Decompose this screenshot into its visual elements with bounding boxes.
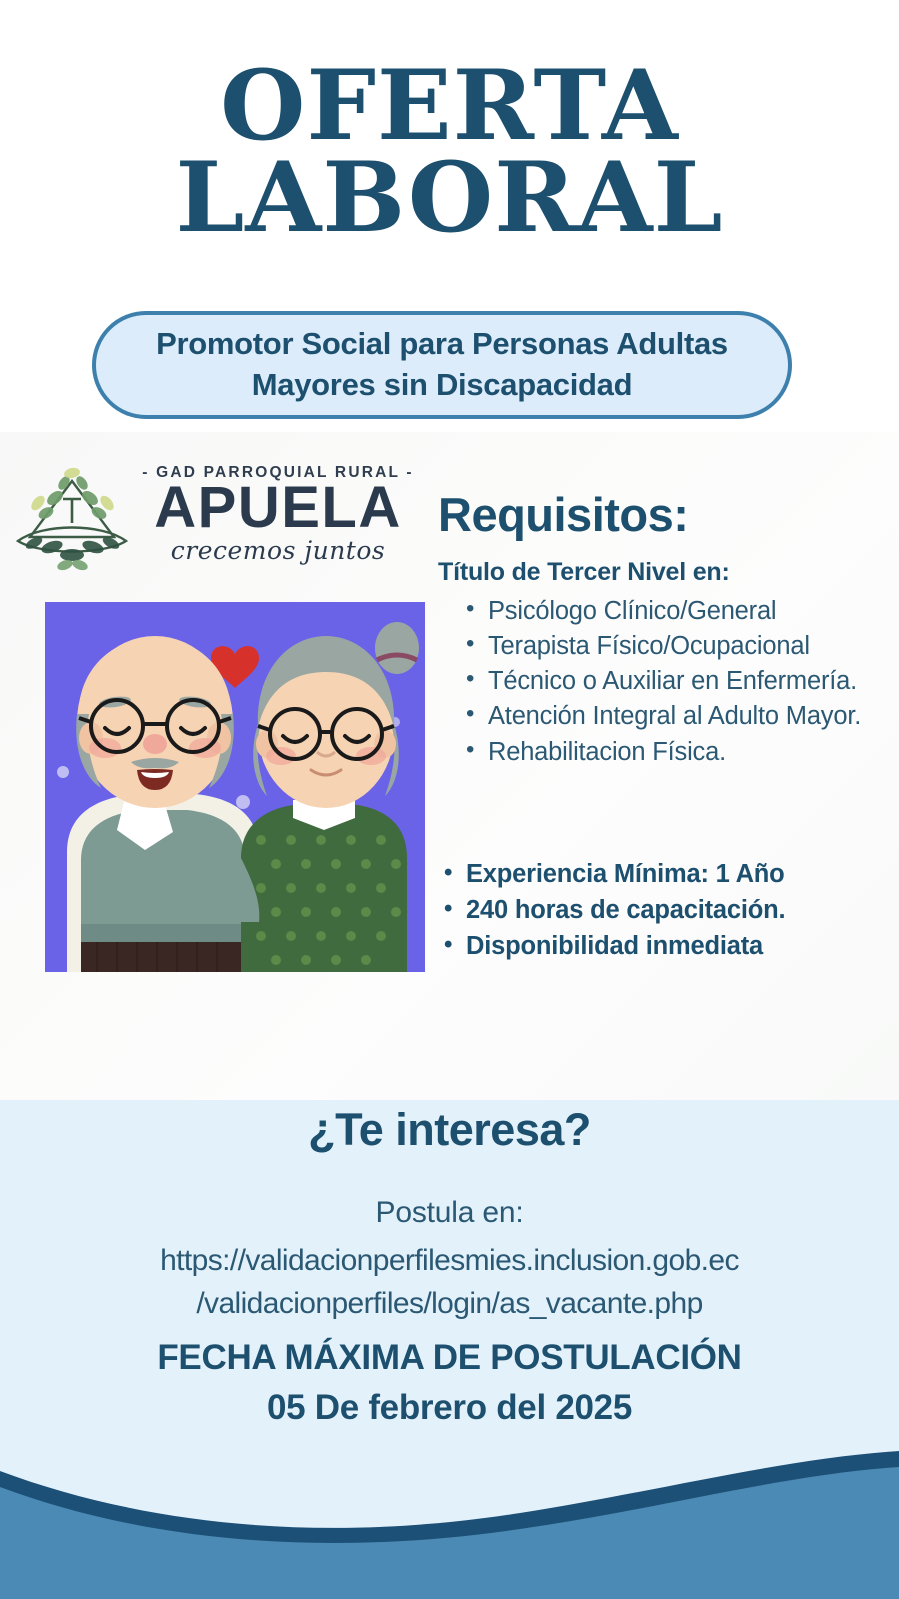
application-url-line-2: /validacionperfiles/login/as_vacante.php (0, 1283, 899, 1326)
requirements-heading: Requisitos: (438, 487, 688, 542)
degree-requirements-list: Psicólogo Clínico/General Terapista Físi… (462, 594, 899, 770)
mountain-leaves-emblem-icon (8, 455, 136, 575)
deadline-label: FECHA MÁXIMA DE POSTULACIÓN (0, 1338, 899, 1378)
organization-logo: - GAD PARROQUIAL RURAL - APUELA crecemos… (8, 452, 428, 577)
list-item: Psicólogo Clínico/General (488, 594, 899, 628)
requirements-subheading: Título de Tercer Nivel en: (438, 558, 730, 587)
logo-name: APUELA (142, 480, 414, 535)
position-title-text: Promotor Social para Personas Adultas Ma… (96, 324, 788, 406)
list-item: Terapista Físico/Ocupacional (488, 629, 899, 663)
condition-requirements-list: Experiencia Mínima: 1 Año 240 horas de c… (440, 858, 796, 966)
elderly-couple-artwork (45, 602, 425, 972)
position-title-pill: Promotor Social para Personas Adultas Ma… (92, 311, 792, 419)
wave-decoration (0, 1409, 899, 1599)
list-item: Atención Integral al Adulto Mayor. (488, 699, 899, 733)
list-item: Rehabilitacion Física. (488, 735, 899, 769)
logo-text-block: - GAD PARROQUIAL RURAL - APUELA crecemos… (142, 464, 414, 565)
job-offer-flyer: OFERTA LABORAL Promotor Social para Pers… (0, 0, 899, 1599)
title-line-2: LABORAL (0, 154, 899, 242)
list-item: 240 horas de capacitación. (466, 894, 796, 928)
list-item: Técnico o Auxiliar en Enfermería. (488, 664, 899, 698)
application-url[interactable]: https://validacionperfilesmies.inclusion… (0, 1240, 899, 1325)
list-item: Disponibilidad inmediata (466, 930, 796, 964)
apply-label: Postula en: (0, 1196, 899, 1230)
application-url-line-1: https://validacionperfilesmies.inclusion… (0, 1240, 899, 1283)
cta-heading: ¿Te interesa? (0, 1104, 899, 1156)
elderly-couple-illustration (45, 602, 425, 972)
page-title: OFERTA LABORAL (0, 62, 899, 243)
title-line-1: OFERTA (0, 62, 899, 150)
list-item: Experiencia Mínima: 1 Año (466, 858, 796, 892)
logo-tagline: crecemos juntos (142, 536, 414, 565)
